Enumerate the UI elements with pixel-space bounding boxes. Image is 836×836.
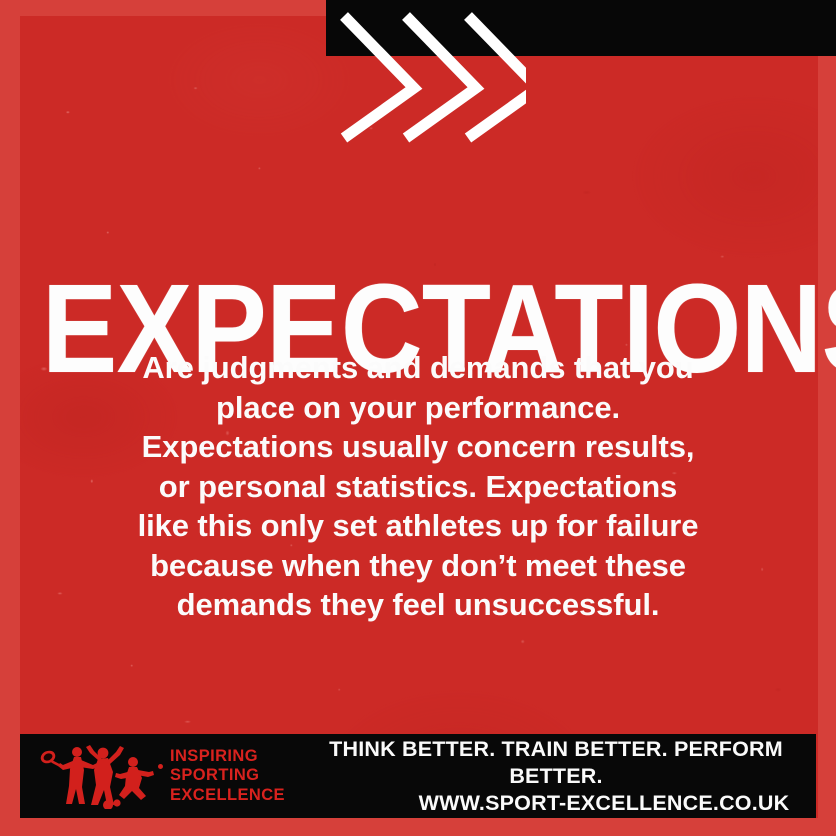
body-line: demands they feel unsuccessful. [58,585,778,625]
chevron-right-icon [344,16,414,138]
body-line: place on your performance. [58,388,778,428]
website-url[interactable]: WWW.SPORT-EXCELLENCE.CO.UK [306,790,806,817]
tagline-line-1: THINK BETTER. TRAIN BETTER. PERFORM BETT… [329,737,783,788]
chevron-right-icon [468,16,526,138]
logo-wordmark: INSPIRING SPORTING EXCELLENCE [170,747,285,806]
body-line: Are judgments and demands that you [58,348,778,388]
body-line: because when they don’t meet these [58,546,778,586]
footer-tagline: THINK BETTER. TRAIN BETTER. PERFORM BETT… [306,736,816,817]
chevron-group [306,0,526,148]
body-copy: Are judgments and demands that you place… [58,348,778,625]
logo-word-line: INSPIRING [170,747,285,767]
logo-dot [158,764,163,769]
chevron-right-icon [406,16,476,138]
brand-logo: INSPIRING SPORTING EXCELLENCE [36,743,306,809]
footer-bar: INSPIRING SPORTING EXCELLENCE THINK BETT… [20,734,816,818]
logo-word-line: SPORTING [170,766,285,786]
body-line: or personal statistics. Expectations [58,467,778,507]
poster-canvas: EXPECTATIONS Are judgments and demands t… [0,0,836,836]
logo-word-line: EXCELLENCE [170,786,285,806]
body-line: like this only set athletes up for failu… [58,506,778,546]
athletes-silhouette-logo [36,743,156,809]
body-line: Expectations usually concern results, [58,427,778,467]
